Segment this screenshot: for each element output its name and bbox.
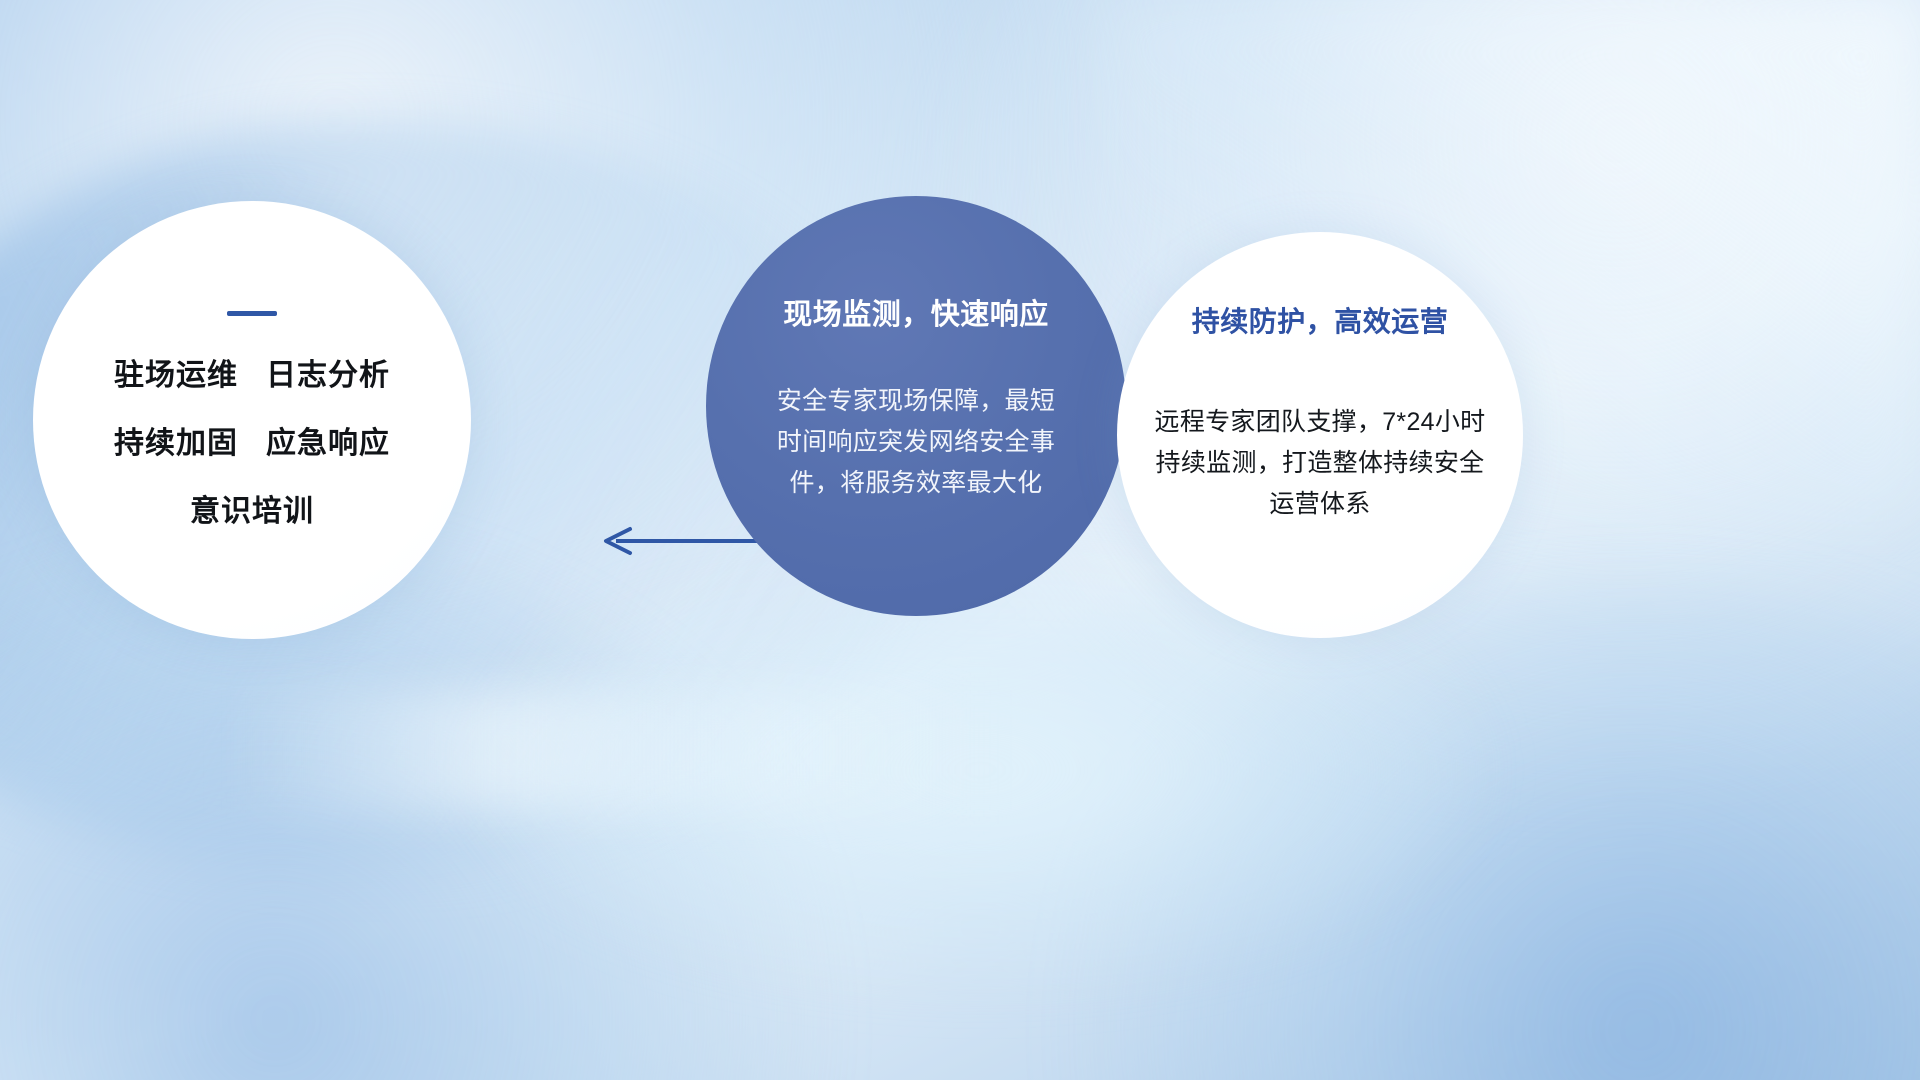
- continuous-protection-title: 持续防护，高效运营: [1192, 300, 1449, 340]
- keyword-item: 意识培训: [190, 486, 314, 530]
- continuous-protection-circle: 持续防护，高效运营 远程专家团队支撑，7*24小时持续监测，打造整体持续安全运营…: [1117, 232, 1523, 638]
- left-keyword-circle: 驻场运维 日志分析 持续加固 应急响应 意识培训: [33, 201, 471, 639]
- divider-dash-icon: [227, 311, 277, 316]
- keyword-item: 日志分析: [266, 350, 390, 394]
- keyword-row: 持续加固 应急响应: [114, 418, 390, 462]
- slide-canvas: 驻场运维 日志分析 持续加固 应急响应 意识培训 现场监测，快速响应 安全专家现…: [0, 0, 1920, 1080]
- continuous-protection-body: 远程专家团队支撑，7*24小时持续监测，打造整体持续安全运营体系: [1145, 402, 1495, 525]
- onsite-monitoring-circle: 现场监测，快速响应 安全专家现场保障，最短时间响应突发网络安全事件，将服务效率最…: [706, 196, 1126, 616]
- keyword-item: 驻场运维: [114, 350, 238, 394]
- keyword-row: 驻场运维 日志分析: [114, 350, 390, 394]
- keyword-row: 意识培训: [190, 486, 314, 530]
- onsite-monitoring-body: 安全专家现场保障，最短时间响应突发网络安全事件，将服务效率最大化: [774, 381, 1058, 504]
- background-light-streak: [230, 690, 990, 810]
- keyword-item: 应急响应: [266, 418, 390, 462]
- keyword-item: 持续加固: [114, 418, 238, 462]
- onsite-monitoring-title: 现场监测，快速响应: [783, 291, 1049, 333]
- keyword-list: 驻场运维 日志分析 持续加固 应急响应 意识培训: [114, 350, 390, 530]
